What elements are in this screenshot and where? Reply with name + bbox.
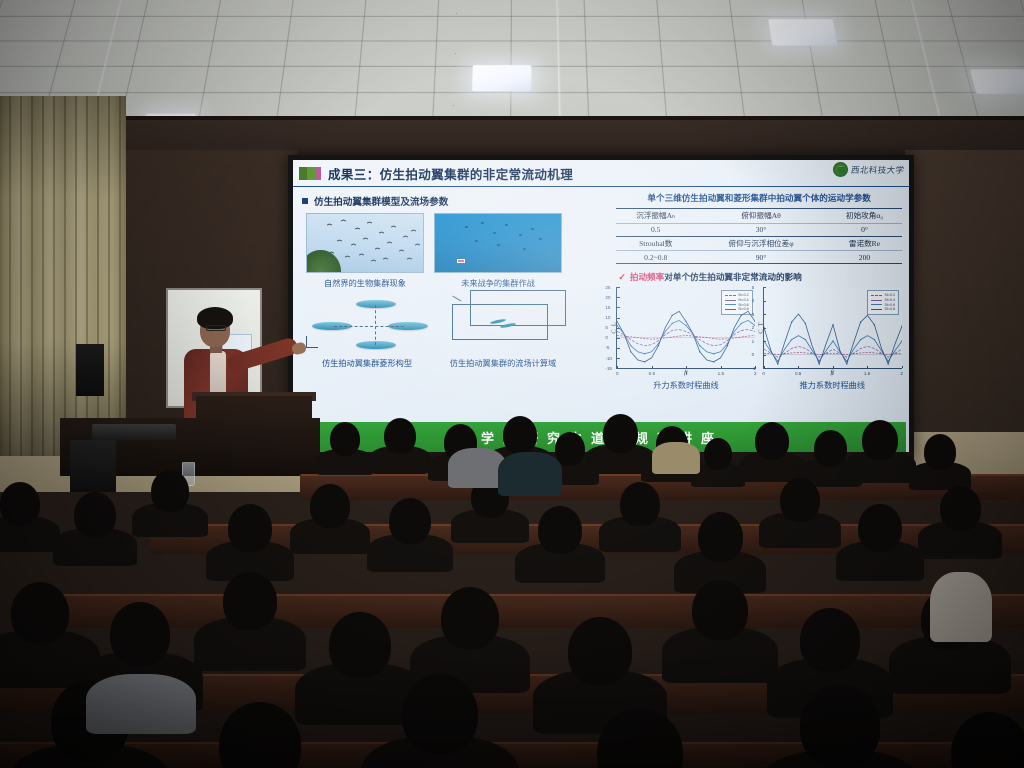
audience-member-head <box>110 602 170 666</box>
drone <box>505 224 508 226</box>
params-cell: 200 <box>827 251 902 264</box>
y-axis-tick <box>764 314 767 315</box>
bird <box>411 230 416 233</box>
audience-member-head <box>940 486 981 531</box>
y-axis-tick-label: 2 <box>752 325 755 330</box>
chart-svg <box>764 287 902 368</box>
bird <box>371 260 376 263</box>
params-cell: 30° <box>695 223 827 236</box>
audience-member-head <box>603 414 638 453</box>
ceiling-light <box>970 69 1024 93</box>
y-axis-tick-label: 25 <box>605 285 610 290</box>
floor-speaker <box>76 344 104 396</box>
audience-member-head <box>620 482 660 526</box>
params-cell: 0.2~0.8 <box>616 251 695 264</box>
params-cell: 雷诺数Re <box>827 236 902 251</box>
bird <box>345 256 350 259</box>
y-axis-tick <box>617 297 620 298</box>
audience-member-head <box>862 420 898 460</box>
x-axis-tick <box>652 366 653 369</box>
x-axis-tick-label: 1.5 <box>864 371 870 376</box>
x-axis-tick-label: 1 <box>831 371 834 376</box>
lecture-bench <box>60 594 1024 628</box>
y-axis-tick <box>617 348 620 349</box>
x-axis-tick <box>764 366 765 369</box>
y-axis-tick-label: 15 <box>605 305 610 310</box>
university-emblem-icon <box>833 162 848 177</box>
diagram-cell-domain: 仿生拍动翼集群的流场计算域 <box>438 298 568 369</box>
ceiling-light <box>768 19 837 45</box>
x-axis-tick-label: 1 <box>685 371 688 376</box>
diamond-configuration-diagram <box>304 298 430 352</box>
bird <box>351 244 356 247</box>
slide-title-bar: 成果三：仿生拍动翼集群的非定常流动机理 西北科技大学 <box>293 160 909 187</box>
x-axis-tick-label: 0 <box>616 371 619 376</box>
y-axis-tick <box>764 368 767 369</box>
params-cell: 初始攻角α₀ <box>827 209 902 224</box>
x-axis-tick <box>833 366 834 369</box>
diagram-caption-domain: 仿生拍动翼集群的流场计算域 <box>450 357 556 369</box>
bird <box>327 224 332 227</box>
y-axis-tick-label: -5 <box>605 345 609 350</box>
curtain-shading <box>0 96 126 456</box>
audience-member-head <box>858 504 902 552</box>
audience-member-head <box>151 470 189 512</box>
university-name: 西北科技大学 <box>850 164 905 176</box>
y-axis-tick <box>764 287 767 288</box>
diagram-row: 仿生拍动翼集群菱形构型 仿生拍动翼集群的流场计算域 <box>304 298 609 369</box>
x-axis-tick-label: 0.5 <box>795 371 801 376</box>
drone <box>531 228 534 230</box>
bird <box>355 228 360 231</box>
photo-cell-birds: 自然界的生物集群现象 <box>306 213 424 289</box>
drone <box>475 240 478 242</box>
audience-member-head <box>503 416 537 454</box>
y-axis-tick <box>617 287 620 288</box>
y-axis-tick <box>764 328 767 329</box>
audience-member-head <box>800 684 880 768</box>
audience <box>0 412 1024 768</box>
params-cell: 俯仰与沉浮相位差φ <box>695 236 827 251</box>
square-bullet-icon <box>302 198 308 204</box>
drone <box>519 234 522 236</box>
y-axis-tick-label: 10 <box>605 315 610 320</box>
y-axis-tick <box>764 355 767 356</box>
params-cell: 沉浮振幅Aₕ <box>616 209 695 224</box>
x-axis-tick <box>798 366 799 369</box>
chart-heading-text: 拍动频率对单个仿生拍动翼非定常流动的影响 <box>630 271 802 283</box>
y-axis-tick-label: 5 <box>752 285 755 290</box>
audience-member-garment <box>930 572 992 642</box>
y-axis-tick <box>617 368 620 369</box>
params-header-row: Strouhal数俯仰与沉浮相位差φ雷诺数Re <box>616 236 902 251</box>
x-axis-tick <box>902 366 903 369</box>
slide-title: 成果三：仿生拍动翼集群的非定常流动机理 <box>328 164 573 183</box>
audience-member-head <box>310 484 350 528</box>
bird <box>363 238 368 241</box>
chart-heading-highlight: 拍动频率 <box>630 272 664 282</box>
drone <box>481 222 484 224</box>
audience-member-head <box>74 492 116 538</box>
audience-member-head <box>755 422 789 460</box>
audience-member-head <box>402 674 478 754</box>
bird <box>375 248 380 251</box>
y-axis-tick-label: -15 <box>605 366 612 371</box>
audience-member-head <box>568 617 632 685</box>
audience-member-head <box>441 587 499 649</box>
drone <box>497 244 500 246</box>
params-cell: 90° <box>695 251 827 264</box>
bird <box>403 236 408 239</box>
chart-lift-coefficient: C_L St=0.2St=0.4St=0.6St=0.8 2520151050-… <box>616 287 755 391</box>
mini-axes-icon <box>306 336 318 348</box>
birds-flock-photo <box>306 213 424 273</box>
chart-series-line <box>617 311 755 362</box>
x-axis-tick-label: 1.5 <box>718 371 724 376</box>
drone <box>465 226 468 228</box>
params-cell: 0.5 <box>616 223 695 236</box>
bird <box>367 222 372 225</box>
university-logo: 西北科技大学 <box>833 162 904 177</box>
y-axis-tick-label: 5 <box>605 325 608 330</box>
audience-member-head <box>924 434 956 470</box>
kinematic-params-table: 沉浮振幅Aₕ俯仰振幅Aθ初始攻角α₀0.530°0°Strouhal数俯仰与沉浮… <box>616 208 902 264</box>
x-axis-tick-label: 2 <box>754 371 757 376</box>
x-axis-tick-label: 0.5 <box>649 371 655 376</box>
swarm-photo-tag <box>457 259 465 263</box>
y-axis-tick <box>617 358 620 359</box>
drone <box>523 248 526 250</box>
audience-member-head <box>698 512 743 562</box>
lift-plot-area: C_L St=0.2St=0.4St=0.6St=0.8 2520151050-… <box>616 287 755 369</box>
tree-silhouette <box>307 250 341 272</box>
diagram-caption-diamond: 仿生拍动翼集群菱形构型 <box>322 357 412 369</box>
audience-member-head <box>223 572 277 630</box>
section-bullet-text: 仿生拍动翼集群模型及流场参数 <box>314 194 448 208</box>
check-icon: ✓ <box>618 272 626 283</box>
drone-swarm-photo <box>434 213 562 273</box>
lecture-hall-photo: 成果三：仿生拍动翼集群的非定常流动机理 西北科技大学 仿生拍动翼集群模型及流场参… <box>0 0 1024 768</box>
audience-member-head <box>389 498 431 544</box>
y-axis-tick-label: 3 <box>752 312 755 317</box>
photo-cell-swarm: 未来战争的集群作战 <box>434 213 562 289</box>
y-axis-tick-label: 1 <box>752 339 755 344</box>
chart-heading-row: ✓ 拍动频率对单个仿生拍动翼非定常流动的影响 <box>618 271 902 283</box>
photo-row: 自然界的生物集群现象 未来战争的集群作战 <box>306 213 609 289</box>
audience-member-garment <box>86 674 196 734</box>
bird <box>341 220 346 223</box>
thrust-plot-area: C_T St=0.2St=0.4St=0.6St=0.8 543210-100.… <box>763 287 902 369</box>
drone <box>493 232 496 234</box>
x-axis-tick <box>617 366 618 369</box>
y-axis-tick <box>617 328 620 329</box>
y-axis-tick-label: 4 <box>752 298 755 303</box>
bird <box>387 242 392 245</box>
chart-series-line <box>764 314 902 364</box>
slide-canvas: 成果三：仿生拍动翼集群的非定常流动机理 西北科技大学 仿生拍动翼集群模型及流场参… <box>293 160 909 455</box>
audience-member-head <box>800 608 860 672</box>
params-value-row: 0.2~0.890°200 <box>616 251 902 264</box>
y-axis-tick <box>764 301 767 302</box>
params-cell: 俯仰振幅Aθ <box>695 209 827 224</box>
x-axis-tick-label: 2 <box>900 371 903 376</box>
audience-member-head <box>951 712 1024 768</box>
ceiling-light <box>472 65 531 91</box>
y-axis-tick <box>617 307 620 308</box>
y-axis-tick-label: 0 <box>752 352 755 357</box>
x-axis-tick <box>686 366 687 369</box>
bird <box>329 252 334 255</box>
params-cell: 0° <box>827 223 902 236</box>
x-axis-tick-label: 0 <box>762 371 765 376</box>
lift-chart-caption: 升力系数时程曲线 <box>653 379 719 391</box>
y-axis-tick <box>617 338 620 339</box>
bird <box>337 240 342 243</box>
x-axis-tick <box>867 366 868 369</box>
params-value-row: 0.530°0° <box>616 223 902 236</box>
audience-member-head <box>0 482 40 526</box>
y-axis-tick <box>617 318 620 319</box>
presenter-glasses <box>206 325 226 331</box>
bird <box>415 244 420 247</box>
soffit-edge <box>0 116 1024 120</box>
y-axis-tick <box>764 341 767 342</box>
x-axis-tick <box>721 366 722 369</box>
thrust-chart-caption: 推力系数时程曲线 <box>800 379 866 391</box>
presenter-arm <box>226 336 300 373</box>
y-axis-tick-label: -1 <box>752 366 756 371</box>
audience-member-head <box>780 478 820 522</box>
audience-member-head <box>692 580 748 640</box>
bird <box>407 258 412 261</box>
audience-member-head <box>814 430 847 467</box>
computational-domain-diagram <box>438 298 568 352</box>
drone <box>539 238 542 240</box>
flag-mark-icon <box>299 167 321 180</box>
bird <box>359 254 364 257</box>
audience-member-head <box>384 418 416 454</box>
chart-thrust-coefficient: C_T St=0.2St=0.4St=0.6St=0.8 543210-100.… <box>763 287 902 391</box>
y-axis-tick-label: 0 <box>605 335 608 340</box>
audience-member-head <box>228 504 272 552</box>
audience-member-head <box>329 612 391 678</box>
audience-member-head <box>555 432 585 466</box>
audience-member-garment <box>498 452 562 496</box>
photo-caption-swarm: 未来战争的集群作战 <box>461 277 535 289</box>
chart-svg <box>617 287 755 368</box>
y-axis-tick-label: -10 <box>605 356 612 361</box>
audience-member-head <box>11 582 69 644</box>
params-header-row: 沉浮振幅Aₕ俯仰振幅Aθ初始攻角α₀ <box>616 209 902 224</box>
bird <box>399 250 404 253</box>
chart-heading-rest: 对单个仿生拍动翼非定常流动的影响 <box>664 272 802 282</box>
diagram-cell-diamond: 仿生拍动翼集群菱形构型 <box>304 298 430 369</box>
ceiling-grid-line <box>0 41 1024 42</box>
y-axis-tick-label: 20 <box>605 295 610 300</box>
param-table-title: 单个三维仿生拍动翼和菱形集群中拍动翼个体的运动学参数 <box>616 192 902 204</box>
audience-member-head <box>330 422 360 456</box>
audience-member-garment <box>652 442 700 474</box>
section-bullet-row: 仿生拍动翼集群模型及流场参数 <box>302 194 609 208</box>
bird <box>391 226 396 229</box>
params-cell: Strouhal数 <box>616 236 695 251</box>
audience-member-head <box>538 506 582 554</box>
charts-row: C_L St=0.2St=0.4St=0.6St=0.8 2520151050-… <box>616 287 902 391</box>
ceiling-grid-line <box>0 92 1024 93</box>
bird <box>383 258 388 261</box>
ceiling-grid-line <box>0 16 1024 17</box>
bird <box>379 232 384 235</box>
photo-caption-birds: 自然界的生物集群现象 <box>324 277 406 289</box>
audience-member-head <box>704 438 732 470</box>
